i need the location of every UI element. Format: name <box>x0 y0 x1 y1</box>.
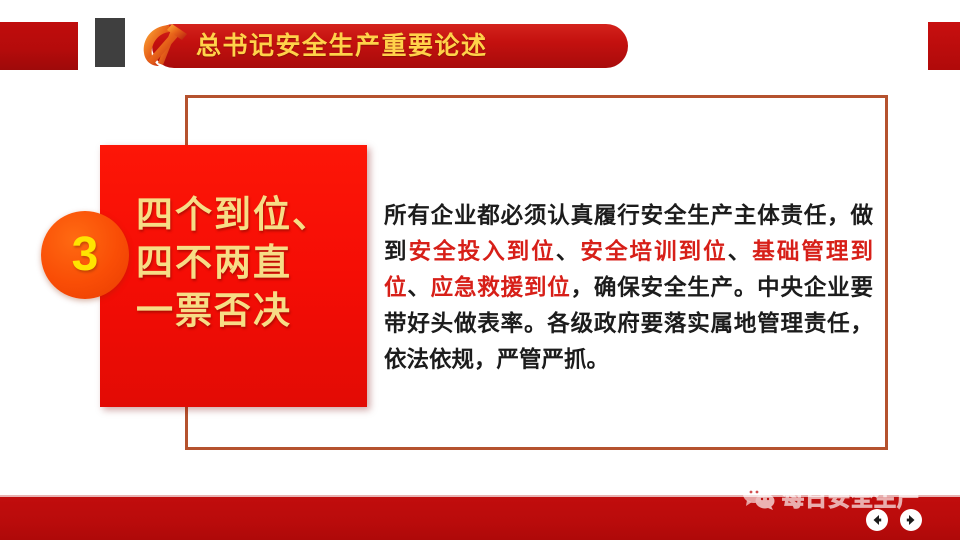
body-segment: 、 <box>556 239 581 264</box>
header-left-accent-bar <box>0 22 78 70</box>
hammer-sickle-emblem-icon <box>138 20 192 70</box>
body-segment-highlight: 安全投入到位 <box>409 239 556 264</box>
callout-number-label: 3 <box>41 211 129 299</box>
keyword-callout-box: 四个到位、 四不两直 一票否决 <box>100 145 367 407</box>
page-title: 总书记安全生产重要论述 <box>196 24 616 68</box>
callout-number-badge: 3 <box>41 211 129 299</box>
slide-navigation <box>866 509 922 531</box>
prev-slide-button[interactable] <box>866 509 888 531</box>
body-segment-highlight: 应急救援到位 <box>431 275 571 300</box>
arrow-left-icon <box>870 513 884 527</box>
header-gray-accent-block <box>95 18 125 67</box>
body-paragraph: 所有企业都必须认真履行安全生产主体责任，做到安全投入到位、安全培训到位、基础管理… <box>384 198 873 378</box>
body-segment: 、 <box>728 239 753 264</box>
keyword-callout-text: 四个到位、 四不两直 一票否决 <box>100 191 367 335</box>
wechat-logo-icon <box>742 483 776 511</box>
body-segment-highlight: 安全培训到位 <box>580 239 727 264</box>
body-segment: 、 <box>407 275 430 300</box>
slide-canvas: 总书记安全生产重要论述 所有企业都必须认真履行安全生产主体责任，做到安全投入到位… <box>0 0 960 540</box>
header-right-accent-bar <box>928 22 960 70</box>
arrow-right-icon <box>904 513 918 527</box>
next-slide-button[interactable] <box>900 509 922 531</box>
